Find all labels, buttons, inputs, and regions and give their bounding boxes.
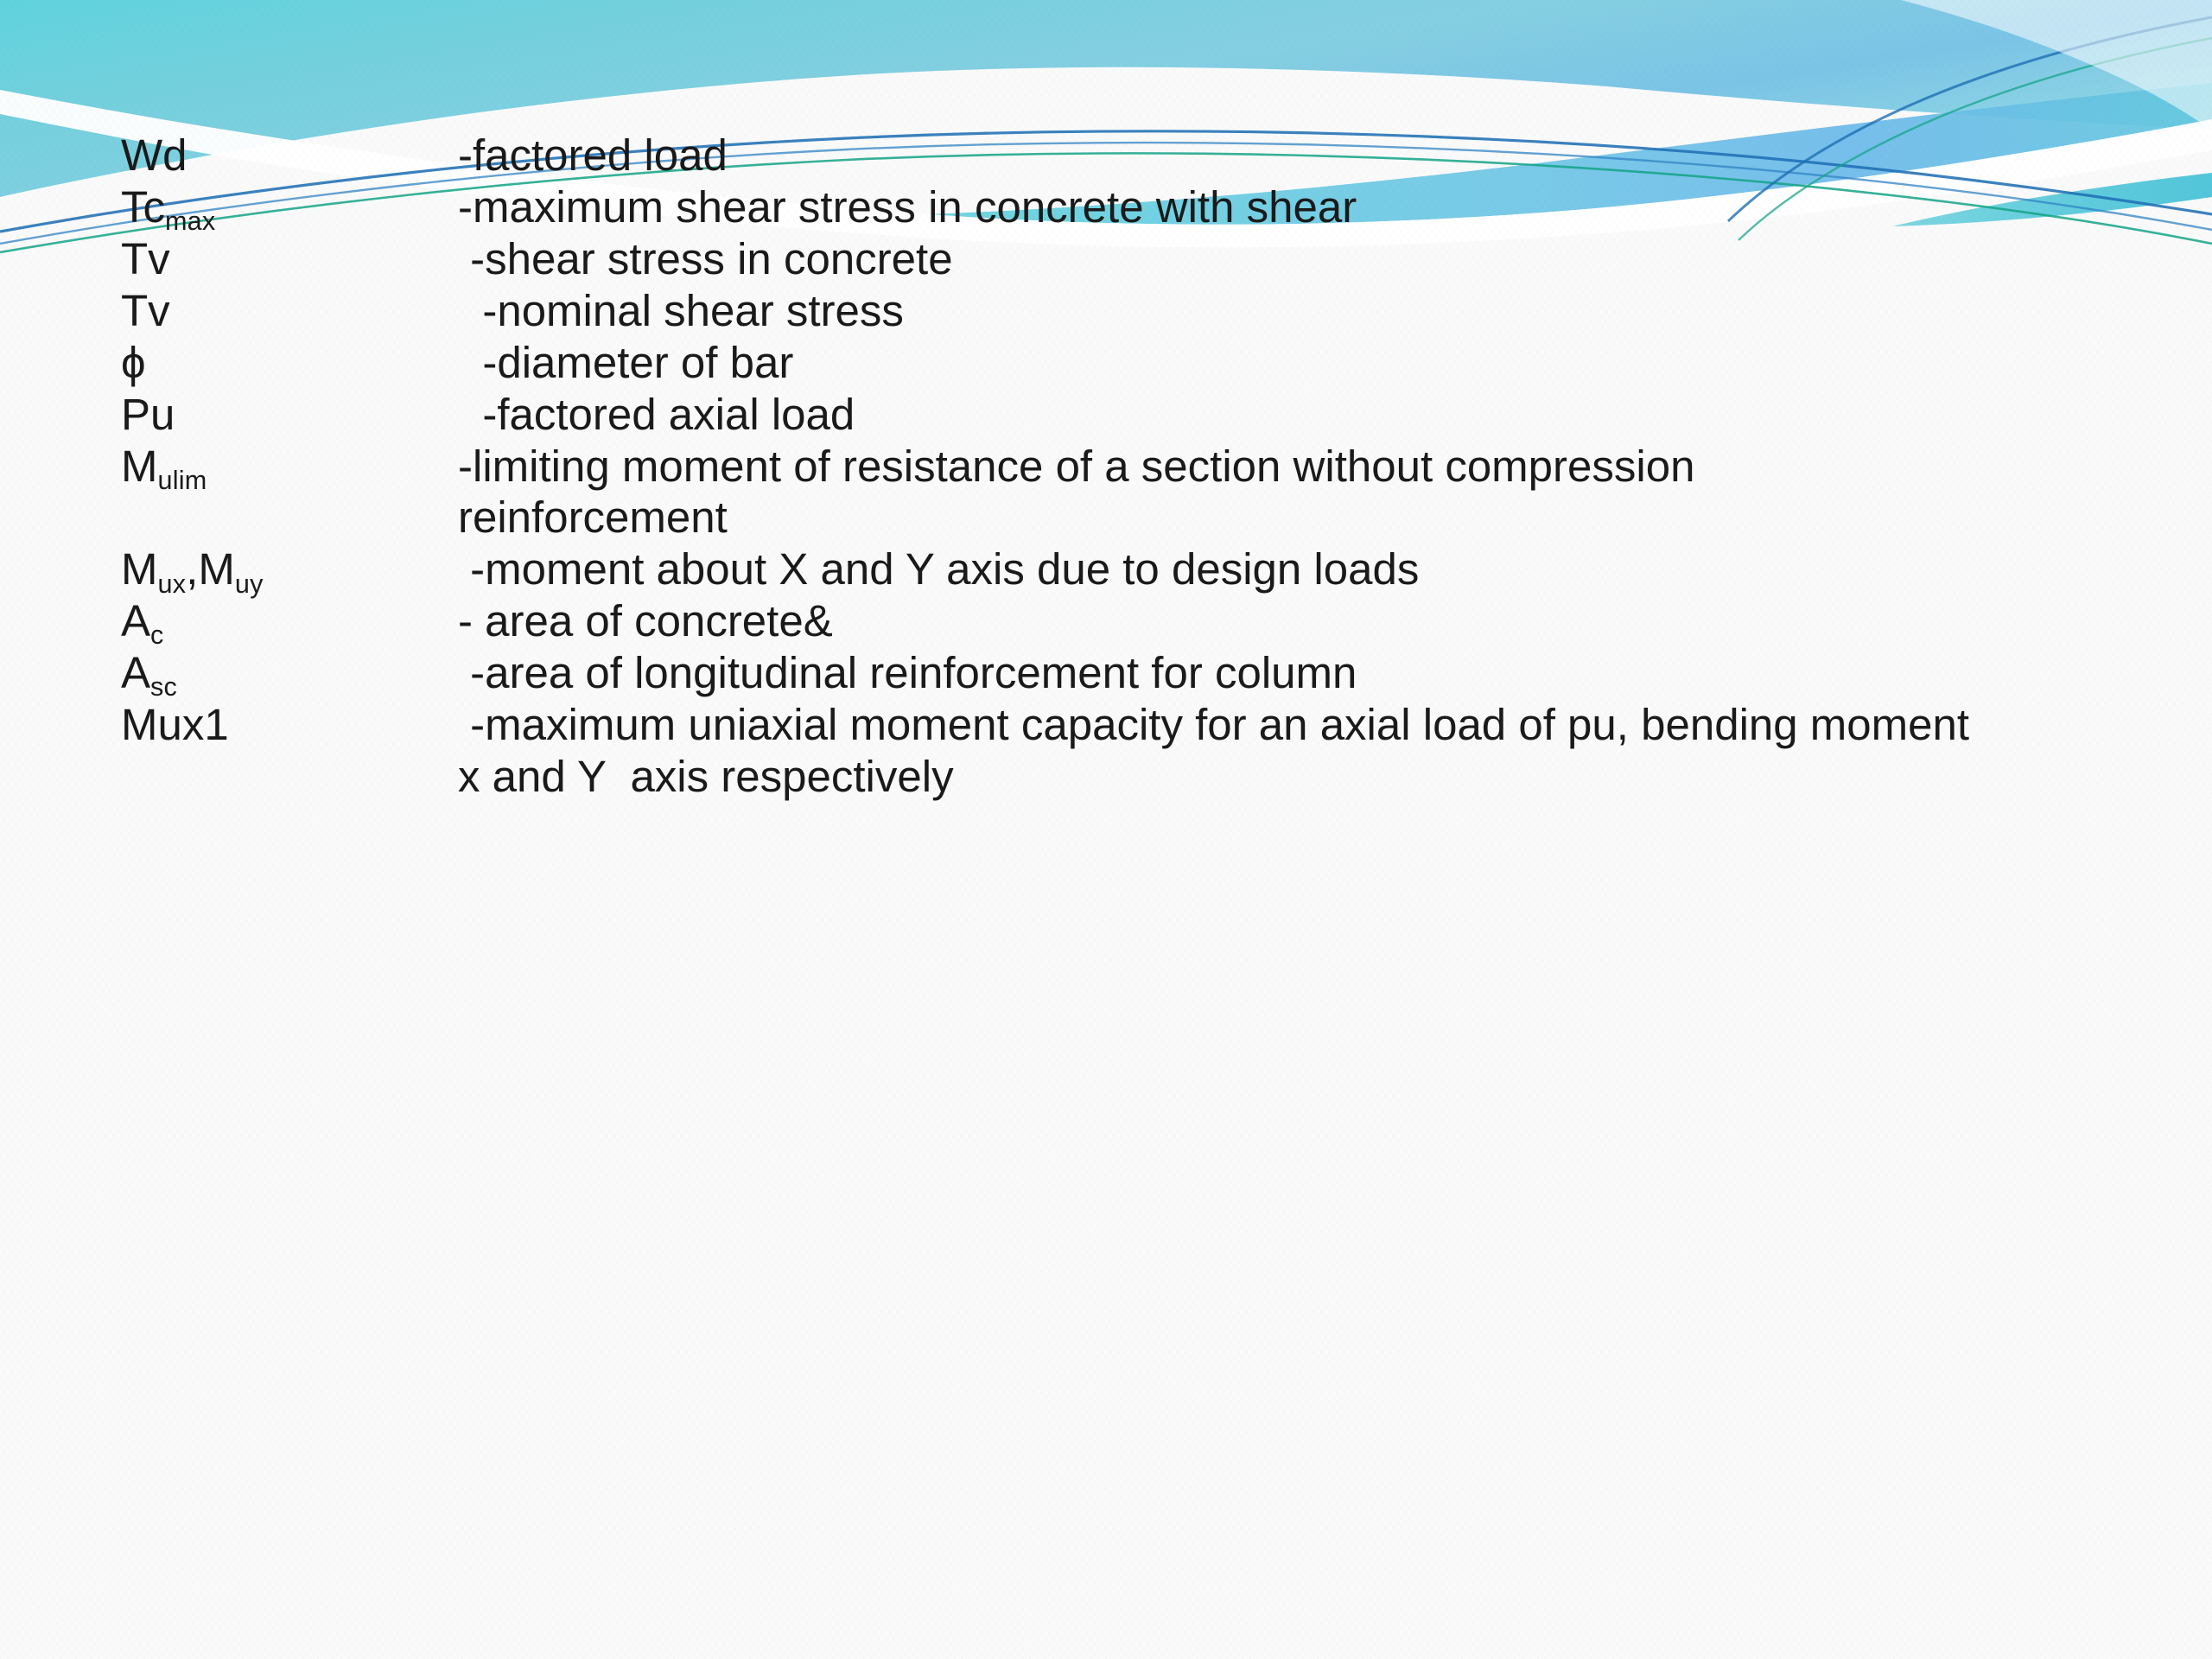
notation-description-text: -diameter of bar xyxy=(458,338,793,387)
notation-symbol-subscript: max xyxy=(165,207,215,236)
notation-description: -factored load xyxy=(458,130,2212,181)
notation-symbol-base: M xyxy=(121,544,157,594)
notation-symbol-base: ϕ xyxy=(121,338,146,387)
notation-description-text: -moment about X and Y axis due to design… xyxy=(458,544,1419,594)
notation-description: -shear stress in concrete xyxy=(458,233,2212,285)
notation-symbol-base: Tv xyxy=(121,234,170,283)
notation-symbol-subscript: ux xyxy=(157,569,186,599)
notation-description-text: -factored axial load xyxy=(458,390,855,439)
notation-symbol-base: Mux1 xyxy=(121,700,229,749)
slide-canvas: Wd -factored load Tcmax -maximum shear s… xyxy=(0,0,2212,1659)
notation-symbol-subscript: sc xyxy=(150,672,177,702)
notation-symbol-base: A xyxy=(121,648,150,697)
notation-description: -moment about X and Y axis due to design… xyxy=(458,543,2212,595)
header-white-accent-topright xyxy=(1901,0,2212,131)
notation-symbol: Asc xyxy=(0,647,458,699)
notation-row: ϕ -diameter of bar xyxy=(0,337,2212,389)
notation-description-text: -nominal shear stress xyxy=(458,286,904,335)
notation-symbol: Mux1 xyxy=(0,699,458,751)
notation-description: -diameter of bar xyxy=(458,337,2212,389)
notation-symbol: Tv xyxy=(0,285,458,337)
notation-description-text: -limiting moment of resistance of a sect… xyxy=(458,442,1694,491)
notation-row: Mux1 -maximum uniaxial moment capacity f… xyxy=(0,699,2212,803)
notation-symbol-base: A xyxy=(121,596,150,645)
notation-description-text: - area of concrete& xyxy=(458,596,833,645)
notation-symbol: Ac xyxy=(0,595,458,647)
notation-symbol-base: Pu xyxy=(121,390,175,439)
notation-row: Tcmax -maximum shear stress in concrete … xyxy=(0,181,2212,233)
notation-symbol-base: Tv xyxy=(121,286,170,335)
notation-symbol-base: Wd xyxy=(121,130,188,180)
notation-symbol-subscript: ulim xyxy=(157,466,207,495)
notation-row: Tv -nominal shear stress xyxy=(0,285,2212,337)
notation-row: Tv -shear stress in concrete xyxy=(0,233,2212,285)
notation-symbol: ϕ xyxy=(0,337,458,389)
notation-symbol-base: M xyxy=(121,442,157,491)
notation-row: Ac - area of concrete& xyxy=(0,595,2212,647)
notation-description: -maximum uniaxial moment capacity for an… xyxy=(458,699,2212,803)
notation-symbol-base: Tc xyxy=(121,182,165,232)
notation-row: Pu -factored axial load xyxy=(0,389,2212,441)
notation-description: -limiting moment of resistance of a sect… xyxy=(458,441,2212,544)
notation-description: -factored axial load xyxy=(458,389,2212,441)
notation-symbol: Wd xyxy=(0,130,458,181)
notation-list: Wd -factored load Tcmax -maximum shear s… xyxy=(0,130,2212,803)
notation-description-text: -maximum uniaxial moment capacity for an… xyxy=(458,700,1969,749)
notation-description-text: -maximum shear stress in concrete with s… xyxy=(458,182,1357,232)
notation-symbol: Tcmax xyxy=(0,181,458,233)
notation-row: Asc -area of longitudinal reinforcement … xyxy=(0,647,2212,699)
notation-description: - area of concrete& xyxy=(458,595,2212,647)
notation-description-continuation: x and Y axis respectively xyxy=(458,751,2160,803)
notation-symbol: Mux,Muy xyxy=(0,543,458,595)
notation-description-continuation: reinforcement xyxy=(458,492,2160,543)
notation-symbol-subscript-2: uy xyxy=(235,569,264,599)
notation-description: -nominal shear stress xyxy=(458,285,2212,337)
notation-description: -maximum shear stress in concrete with s… xyxy=(458,181,2212,233)
notation-description-text: -factored load xyxy=(458,130,728,180)
notation-row: Mux,Muy -moment about X and Y axis due t… xyxy=(0,543,2212,595)
notation-symbol: Pu xyxy=(0,389,458,441)
notation-symbol: Tv xyxy=(0,233,458,285)
notation-description-text: -area of longitudinal reinforcement for … xyxy=(458,648,1357,697)
notation-symbol: Mulim xyxy=(0,441,458,493)
notation-symbol-base-2: ,M xyxy=(186,544,235,594)
notation-symbol-subscript: c xyxy=(150,620,164,650)
notation-row: Mulim -limiting moment of resistance of … xyxy=(0,441,2212,544)
notation-row: Wd -factored load xyxy=(0,130,2212,181)
notation-description: -area of longitudinal reinforcement for … xyxy=(458,647,2212,699)
notation-description-text: -shear stress in concrete xyxy=(458,234,953,283)
